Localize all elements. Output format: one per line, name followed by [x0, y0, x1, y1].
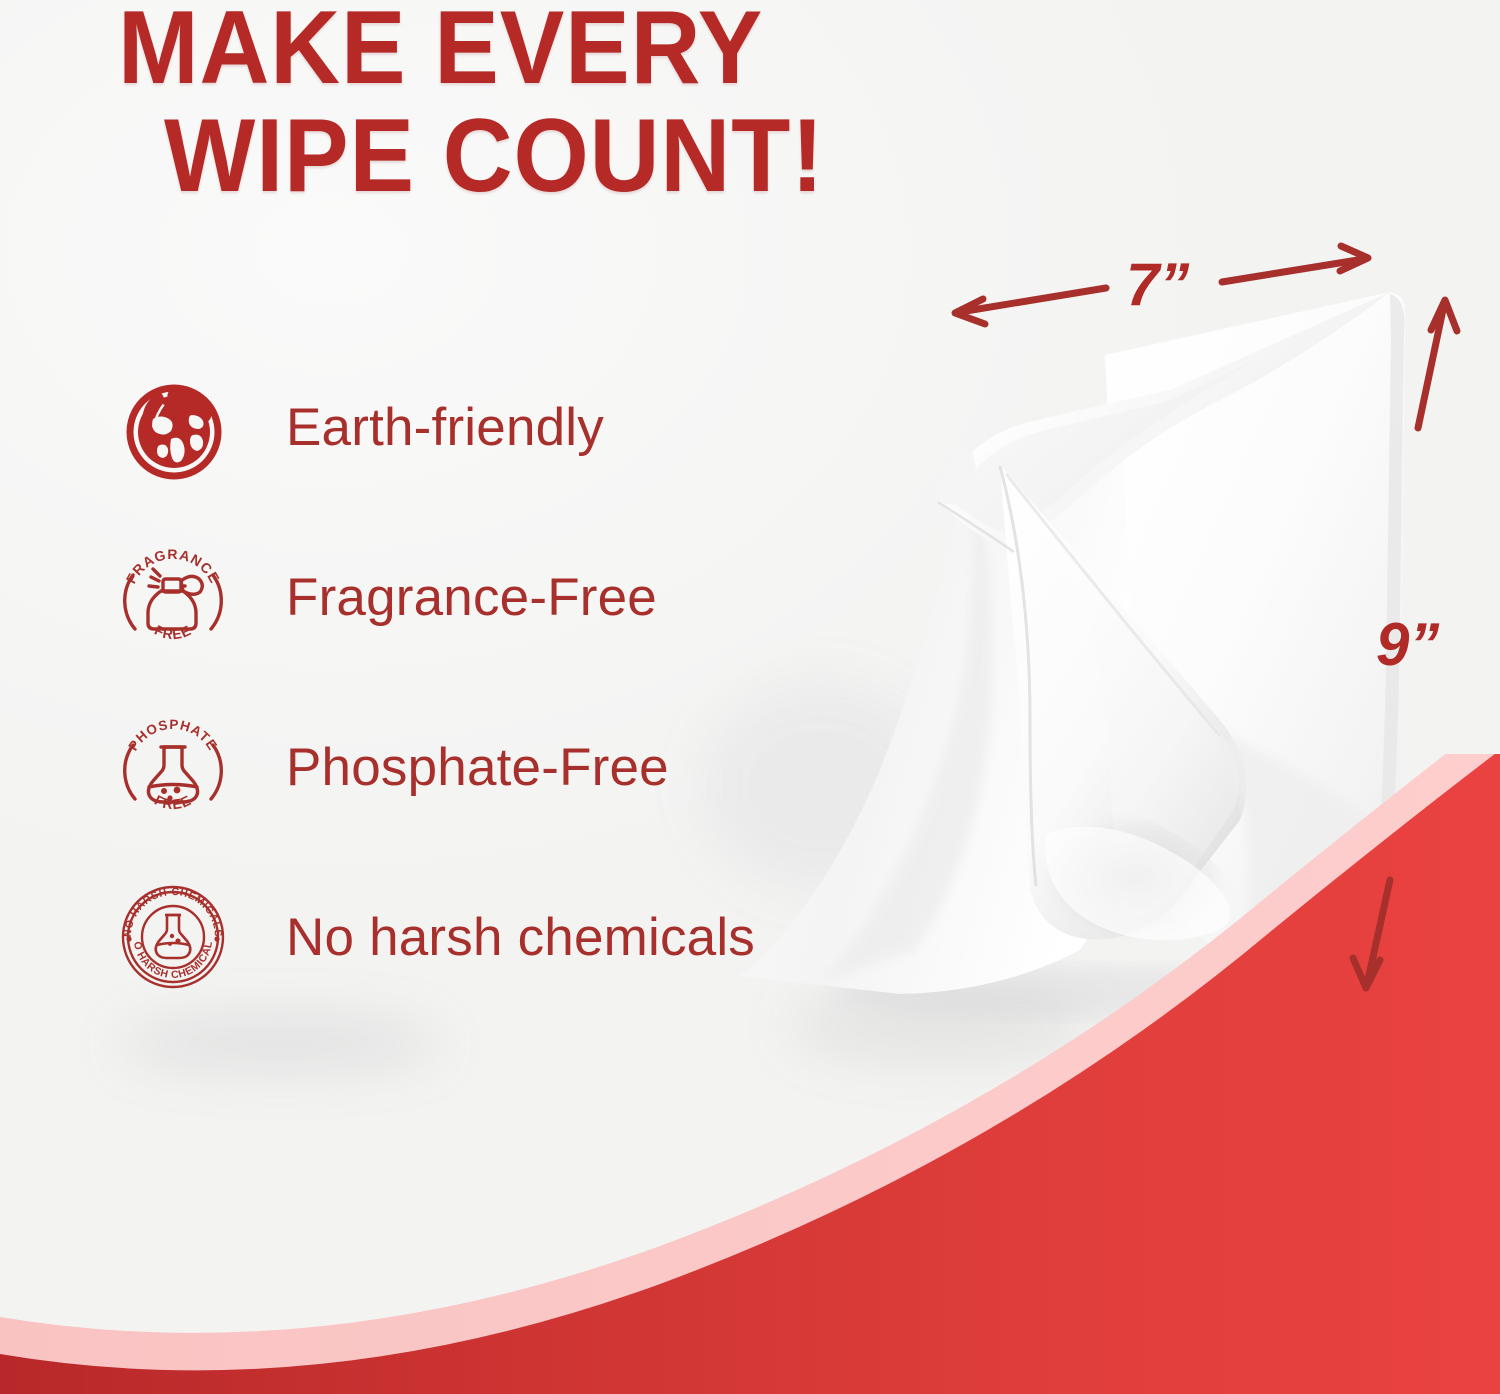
feature-label: Fragrance-Free: [286, 567, 657, 628]
feature-row-no-harsh-chemicals: NO HARSH CHEMICALS NO HARSH CHEMICALS No…: [112, 852, 872, 1022]
seal-outer-text: NO HARSH CHEMICALS: [122, 886, 224, 938]
phosphate-badge-bottom-text: FREE: [152, 792, 194, 813]
feature-row-earth-friendly: Earth-friendly: [112, 342, 872, 512]
page-title: MAKE EVERY WIPE COUNT!: [118, 0, 1118, 210]
feature-list: Earth-friendly: [112, 342, 872, 1022]
feature-label: Earth-friendly: [286, 397, 604, 458]
feature-label: No harsh chemicals: [286, 907, 755, 968]
headline-line-2: WIPE COUNT!: [164, 102, 1051, 210]
fragrance-free-badge-icon: FRAGRANCE FREE: [112, 536, 234, 658]
feature-row-phosphate-free: PHOSPHATE FREE Phosphate-Free: [112, 682, 872, 852]
feature-row-fragrance-free: FRAGRANCE FREE Fragrance-Free: [112, 512, 872, 682]
headline-line-1: MAKE EVERY: [118, 0, 1048, 102]
phosphate-free-badge-icon: PHOSPHATE FREE: [112, 706, 234, 828]
earth-globe-leaf-icon: [112, 366, 234, 488]
product-feature-banner: MAKE EVERY WIPE COUNT!: [0, 0, 1500, 1394]
no-harsh-chemicals-seal-icon: NO HARSH CHEMICALS NO HARSH CHEMICALS: [112, 876, 234, 998]
feature-label: Phosphate-Free: [286, 737, 669, 798]
fragrance-badge-bottom-text: FREE: [152, 622, 194, 643]
surface-shadow-left: [120, 1020, 440, 1066]
